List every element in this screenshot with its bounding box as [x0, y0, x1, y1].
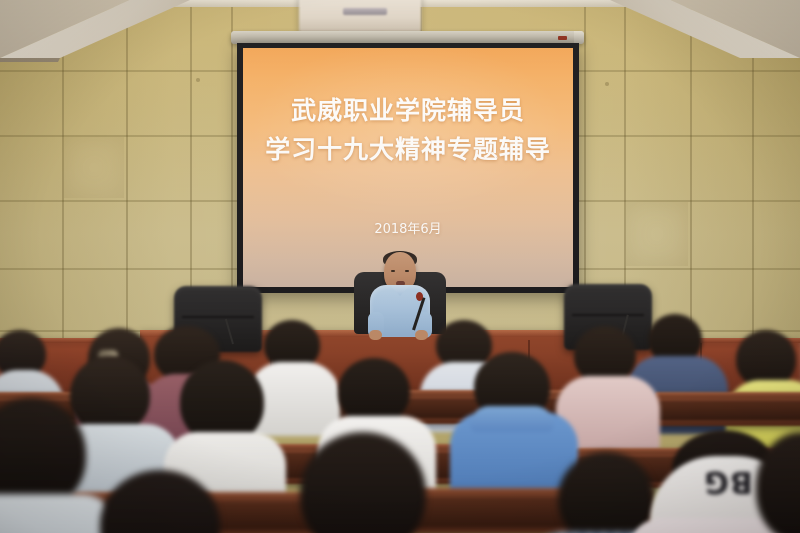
ceiling-projector: [299, 0, 421, 32]
hoodie-graphic-logo: BG: [698, 464, 758, 499]
speaker-hand-left: [369, 330, 382, 340]
speaker-at-podium: [352, 252, 448, 338]
slide-title-block: 武威职业学院辅导员 学习十九大精神专题辅导: [243, 92, 573, 170]
lecture-hall-photograph: 武威职业学院辅导员 学习十九大精神专题辅导 2018年6月: [0, 0, 800, 533]
wall-panel-shade-left: [64, 137, 124, 198]
hoodie-hood: [470, 406, 554, 432]
ceiling-soffit-left: [0, 0, 200, 62]
audience-bench-row-2c[interactable]: [654, 392, 800, 426]
speaker-eye-right: [405, 270, 409, 272]
slide-title-line-2: 学习十九大精神专题辅导: [243, 131, 573, 170]
attendee-head: [338, 358, 410, 424]
attendee-torso: [0, 494, 116, 533]
speaker-microphone-head: [416, 292, 423, 301]
wall-panel-shade-right: [626, 202, 688, 266]
bench-rail: [654, 392, 800, 397]
slide-title-line-1: 武威职业学院辅导员: [243, 92, 573, 131]
attendee-head: [70, 356, 150, 434]
wall-mark-1: [196, 78, 200, 82]
projector-lens: [343, 8, 387, 15]
wall-mark-2: [605, 82, 609, 86]
bench-seat-pad: [658, 401, 800, 420]
ceiling-soffit-right: [600, 0, 800, 62]
slide-date: 2018年6月: [243, 218, 573, 237]
roller-status-led: [558, 36, 567, 40]
speaker-eye-left: [391, 270, 395, 272]
speaker-hand-right: [415, 330, 428, 340]
